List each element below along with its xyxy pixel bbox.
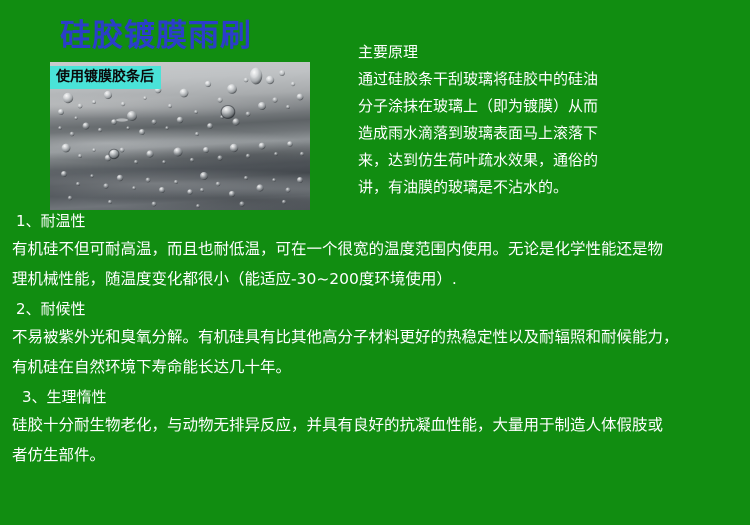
intro-text-block: 主要原理 通过硅胶条干刮玻璃将硅胶中的硅油 分子涂抹在玻璃上（即为镀膜）从而 造… [358,38,748,201]
feature-section-3: 3、生理惰性 硅胶十分耐生物老化，与动物无排异反应，并具有良好的抗凝血性能，大量… [0,384,750,470]
feature-sections: 1、耐温性 有机硅不但可耐高温，而且也耐低温，可在一个很宽的温度范围内使用。无论… [0,208,750,470]
intro-line: 分子涂抹在玻璃上（即为镀膜）从而 [358,93,748,120]
feature-line: 者仿生部件。 [0,440,750,470]
feature-line: 理机械性能，随温度变化都很小（能适应-30~200度环境使用）. [0,264,750,294]
feature-heading: 2、耐候性 [0,296,750,322]
feature-heading: 1、耐温性 [0,208,750,234]
photo-caption-badge: 使用镀膜胶条后 [50,66,161,89]
intro-line: 来，达到仿生荷叶疏水效果，通俗的 [358,147,748,174]
intro-line: 通过硅胶条干刮玻璃将硅胶中的硅油 [358,66,748,93]
intro-line: 造成雨水滴落到玻璃表面马上滚落下 [358,120,748,147]
feature-line: 有机硅在自然环境下寿命能长达几十年。 [0,352,750,382]
intro-heading: 主要原理 [358,38,748,66]
feature-line: 不易被紫外光和臭氧分解。有机硅具有比其他高分子材料更好的热稳定性以及耐辐照和耐候… [0,322,750,352]
feature-section-2: 2、耐候性 不易被紫外光和臭氧分解。有机硅具有比其他高分子材料更好的热稳定性以及… [0,296,750,382]
product-photo: 使用镀膜胶条后 [50,62,310,210]
feature-heading: 3、生理惰性 [0,384,750,410]
feature-section-1: 1、耐温性 有机硅不但可耐高温，而且也耐低温，可在一个很宽的温度范围内使用。无论… [0,208,750,294]
page-title: 硅胶镀膜雨刷 [60,18,252,54]
feature-line: 有机硅不但可耐高温，而且也耐低温，可在一个很宽的温度范围内使用。无论是化学性能还… [0,234,750,264]
feature-line: 硅胶十分耐生物老化，与动物无排异反应，并具有良好的抗凝血性能，大量用于制造人体假… [0,410,750,440]
product-detail-page: 硅胶镀膜雨刷 [0,0,750,525]
intro-line: 讲，有油膜的玻璃是不沾水的。 [358,174,748,201]
